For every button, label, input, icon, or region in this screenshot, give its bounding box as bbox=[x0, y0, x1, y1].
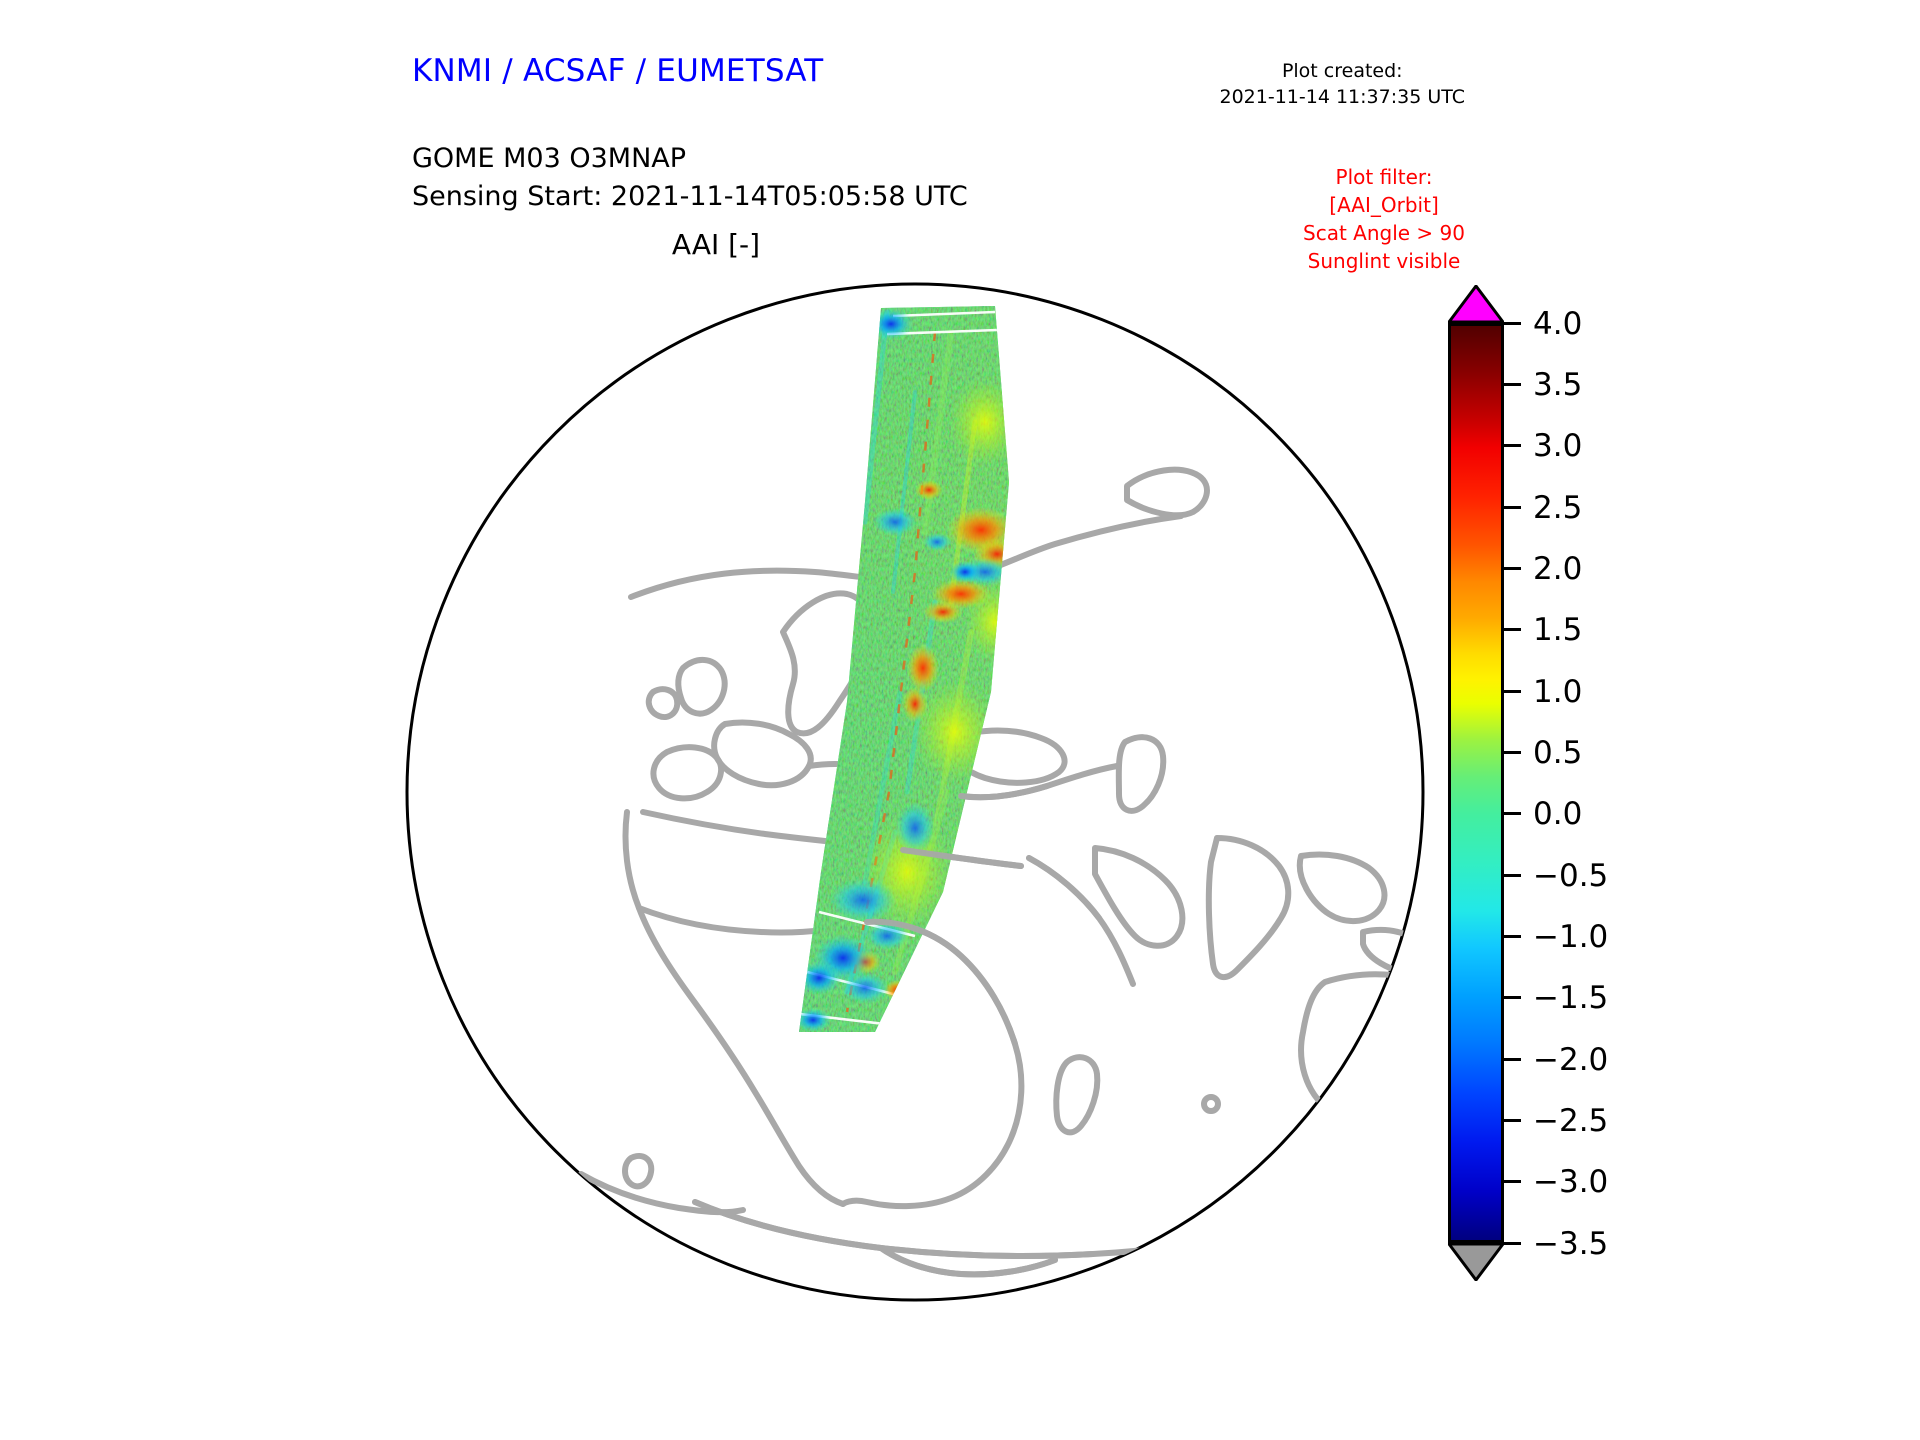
dataset-name: GOME M03 O3MNAP bbox=[412, 140, 968, 178]
colorbar-tick-mark bbox=[1504, 690, 1521, 693]
colorbar-tick-label: −3.5 bbox=[1533, 1229, 1608, 1260]
colorbar-tick-mark bbox=[1504, 1242, 1521, 1245]
colorbar-tick-label: 2.5 bbox=[1533, 493, 1582, 524]
colorbar-tick-mark bbox=[1504, 874, 1521, 877]
globe-orthographic bbox=[395, 272, 1435, 1312]
aai-coldspot bbox=[949, 561, 981, 583]
colorbar-tick-label: 0.5 bbox=[1533, 738, 1582, 769]
colorbar-tick-mark bbox=[1504, 1180, 1521, 1183]
aai-coldspot bbox=[841, 972, 889, 1004]
colorbar-tick-label: 1.5 bbox=[1533, 615, 1582, 646]
plot-filter-sunglint: Sunglint visible bbox=[1303, 247, 1465, 275]
colorbar-tick-label: 1.0 bbox=[1533, 677, 1582, 708]
colorbar-tick-label: −2.0 bbox=[1533, 1045, 1608, 1076]
colorbar-tick-mark bbox=[1504, 567, 1521, 570]
colorbar-tick-mark bbox=[1504, 996, 1521, 999]
colorbar-tick-mark bbox=[1504, 628, 1521, 631]
colorbar-tick-label: 3.5 bbox=[1533, 370, 1582, 401]
colorbar-gradient bbox=[1448, 323, 1504, 1243]
aai-hotspot bbox=[923, 601, 963, 623]
dataset-title-block: GOME M03 O3MNAP Sensing Start: 2021-11-1… bbox=[412, 140, 968, 216]
colorbar-tick-label: −3.0 bbox=[1533, 1167, 1608, 1198]
colorbar-tick-label: 3.0 bbox=[1533, 431, 1582, 462]
colorbar-tick-label: 4.0 bbox=[1533, 309, 1582, 340]
colorbar-tick-mark bbox=[1504, 506, 1521, 509]
colorbar-over-arrow bbox=[1448, 285, 1504, 323]
aai-hotspot bbox=[907, 644, 939, 692]
plot-created-block: Plot created: 2021-11-14 11:37:35 UTC bbox=[1220, 58, 1466, 110]
colorbar-tick-mark bbox=[1504, 322, 1521, 325]
colorbar-tick-label: −0.5 bbox=[1533, 861, 1608, 892]
map-plot-area bbox=[395, 272, 1435, 1312]
aai-coldspot bbox=[895, 802, 935, 854]
plot-filter-scat-angle: Scat Angle > 90 bbox=[1303, 219, 1465, 247]
colorbar-tick-label: 2.0 bbox=[1533, 554, 1582, 585]
colorbar-ticks: 4.03.53.02.52.01.51.00.50.0−0.5−1.0−1.5−… bbox=[1504, 323, 1688, 1243]
colorbar-tick-label: −1.5 bbox=[1533, 983, 1608, 1014]
colorbar: 4.03.53.02.52.01.51.00.50.0−0.5−1.0−1.5−… bbox=[1448, 285, 1688, 1305]
aai-hotspot bbox=[915, 480, 943, 500]
sensing-start: Sensing Start: 2021-11-14T05:05:58 UTC bbox=[412, 178, 968, 216]
colorbar-tick-mark bbox=[1504, 444, 1521, 447]
aai-coldspot bbox=[829, 878, 897, 922]
colorbar-under-arrow bbox=[1448, 1243, 1504, 1281]
colorbar-tick-label: −2.5 bbox=[1533, 1106, 1608, 1137]
colorbar-tick-label: −1.0 bbox=[1533, 922, 1608, 953]
plot-filter-block: Plot filter: [AAI_Orbit] Scat Angle > 90… bbox=[1303, 163, 1465, 275]
colorbar-tick-mark bbox=[1504, 1119, 1521, 1122]
colorbar-tick-mark bbox=[1504, 812, 1521, 815]
aai-coldspot bbox=[873, 508, 917, 536]
colorbar-tick-label: 0.0 bbox=[1533, 799, 1582, 830]
plot-filter-name: [AAI_Orbit] bbox=[1303, 191, 1465, 219]
plot-created-label: Plot created: bbox=[1220, 58, 1466, 84]
page-title: AAI [-] bbox=[0, 228, 1432, 261]
plot-filter-label: Plot filter: bbox=[1303, 163, 1465, 191]
organisation-header: KNMI / ACSAF / EUMETSAT bbox=[412, 53, 823, 89]
plot-created-timestamp: 2021-11-14 11:37:35 UTC bbox=[1220, 84, 1466, 110]
aai-coldspot bbox=[923, 533, 951, 551]
colorbar-tick-mark bbox=[1504, 751, 1521, 754]
colorbar-tick-mark bbox=[1504, 935, 1521, 938]
colorbar-tick-mark bbox=[1504, 383, 1521, 386]
colorbar-tick-mark bbox=[1504, 1058, 1521, 1061]
